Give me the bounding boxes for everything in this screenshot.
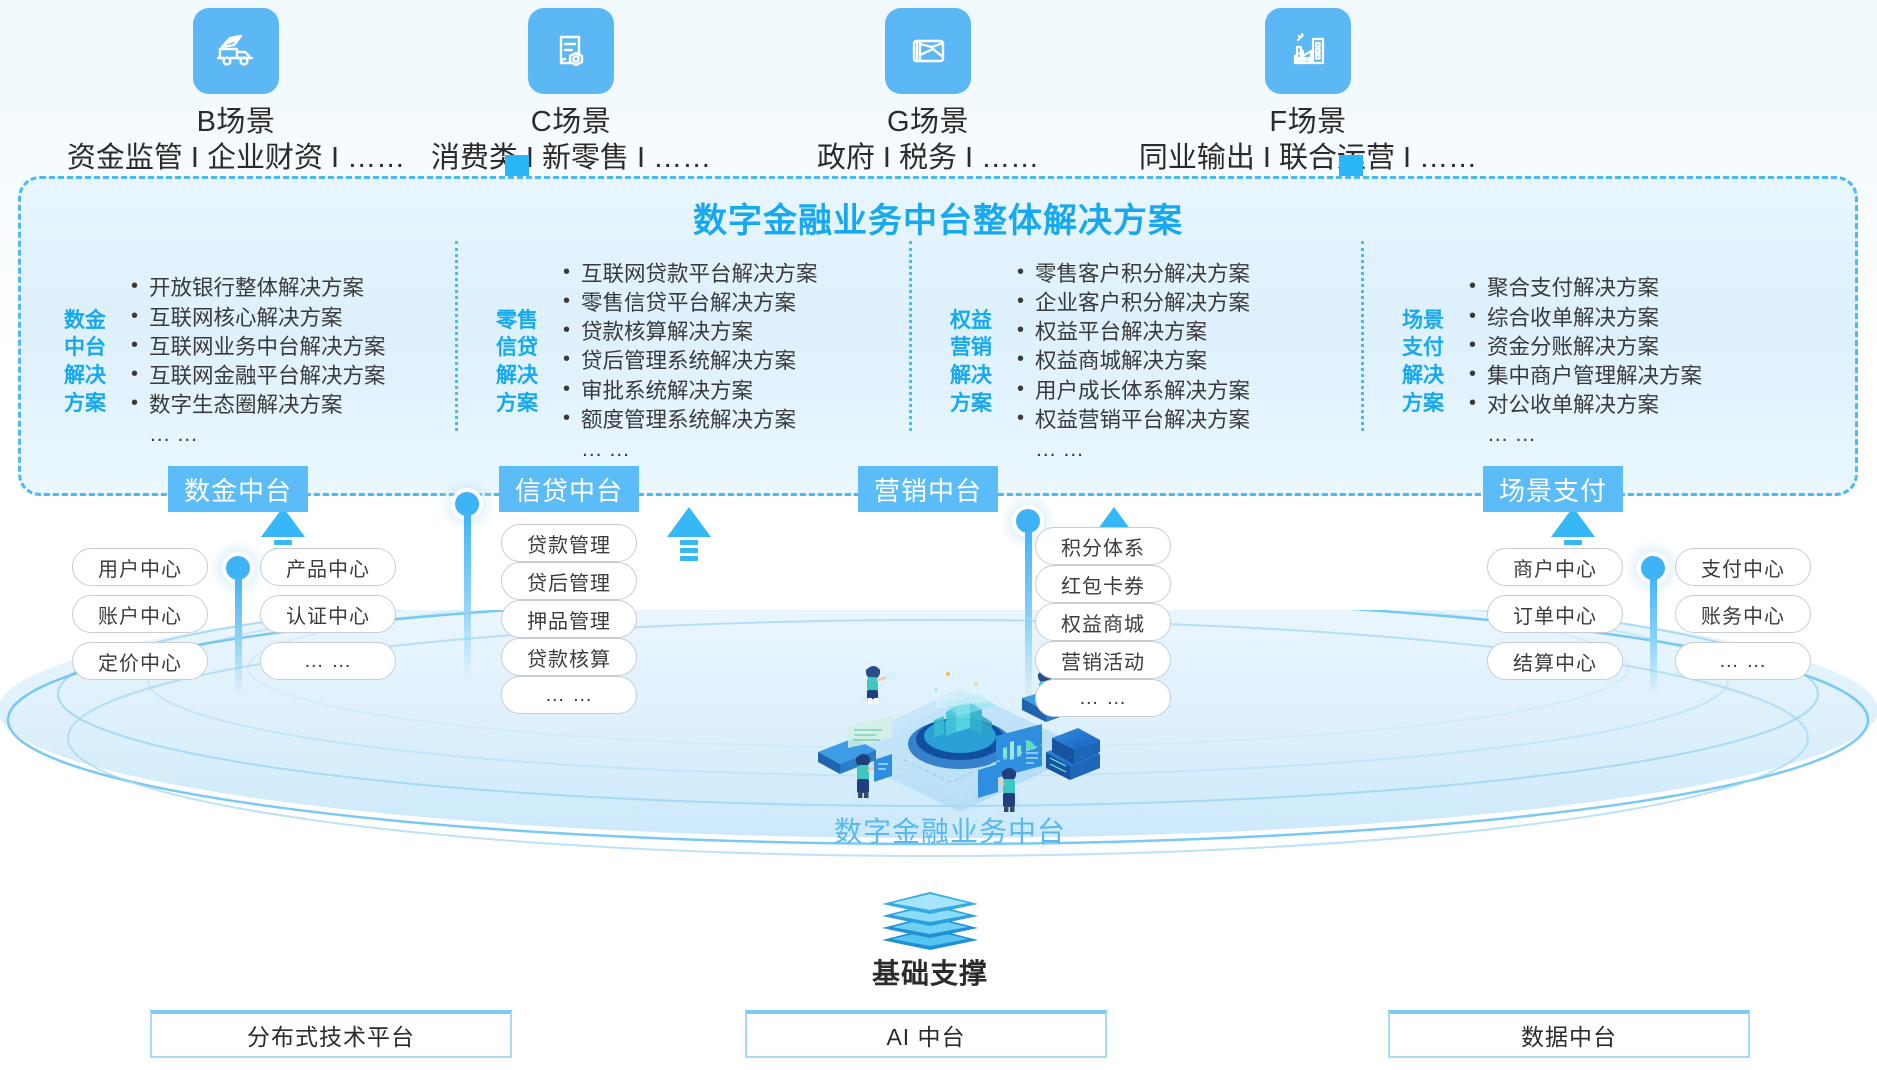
solution-item: 互联网金融平台解决方案 (131, 362, 386, 391)
capability-pill[interactable]: 押品管理 (501, 600, 637, 638)
capability-pill[interactable]: … … (1035, 679, 1171, 717)
solution-item-ellipsis: … … (1469, 420, 1702, 449)
solution-item: 企业客户积分解决方案 (1017, 289, 1250, 318)
flag-map-icon (885, 8, 971, 94)
connector-pin-payment (1625, 540, 1681, 700)
solution-item-ellipsis: … … (131, 420, 386, 449)
arrow-up-credit (667, 507, 711, 573)
solution-column-retail-credit: 零售 信贷 解决 方案 互联网贷款平台解决方案 零售信贷平台解决方案 贷款核算解… (487, 237, 818, 487)
solution-item-list: 聚合支付解决方案 综合收单解决方案 资金分账解决方案 集中商户管理解决方案 对公… (1453, 274, 1702, 449)
solution-item: 额度管理系统解决方案 (563, 406, 818, 435)
diagram-canvas: B场景 资金监管 I 企业财资 I …… C场景 消费类 I 新零售 I …… (0, 0, 1877, 1070)
capability-pill[interactable]: 贷款核算 (501, 638, 637, 676)
column-divider (1361, 241, 1364, 431)
scene-title: F场景 (1108, 104, 1508, 140)
column-divider (455, 241, 458, 431)
solution-item: 贷款核算解决方案 (563, 318, 818, 347)
capability-pill[interactable]: 定价中心 (72, 642, 208, 680)
mid-platform-label-credit[interactable]: 信贷中台 (499, 466, 639, 512)
solution-item-list: 零售客户积分解决方案 企业客户积分解决方案 权益平台解决方案 权益商城解决方案 … (1001, 260, 1250, 465)
solution-column-label: 场景 支付 解决 方案 (1393, 307, 1453, 418)
capability-pill[interactable]: 订单中心 (1487, 595, 1623, 633)
solution-item: 互联网核心解决方案 (131, 304, 386, 333)
solution-item-list: 开放银行整体解决方案 互联网核心解决方案 互联网业务中台解决方案 互联网金融平台… (115, 274, 386, 449)
solution-item: 用户成长体系解决方案 (1017, 377, 1250, 406)
mid-platform-label-payment[interactable]: 场景支付 (1483, 466, 1623, 512)
solution-item: 权益商城解决方案 (1017, 347, 1250, 376)
capability-pill[interactable]: 权益商城 (1035, 603, 1171, 641)
foundation-box-distributed-tech[interactable]: 分布式技术平台 (150, 1010, 512, 1058)
truck-icon (193, 8, 279, 94)
solution-item: 资金分账解决方案 (1469, 333, 1702, 362)
foundation-box-ai-platform[interactable]: AI 中台 (745, 1010, 1107, 1058)
capability-pill[interactable]: 结算中心 (1487, 642, 1623, 680)
capability-pill[interactable]: 营销活动 (1035, 641, 1171, 679)
solution-column-label: 数金 中台 解决 方案 (55, 307, 115, 418)
capability-pill[interactable]: 商户中心 (1487, 548, 1623, 586)
scene-header-g[interactable]: G场景 政府 I 税务 I …… (728, 8, 1128, 178)
solution-item: 数字生态圈解决方案 (131, 391, 386, 420)
capability-pill[interactable]: … … (260, 642, 396, 680)
scene-header-c[interactable]: C场景 消费类 I 新零售 I …… (371, 8, 771, 178)
column-divider (909, 241, 912, 431)
capability-pill[interactable]: 账户中心 (72, 595, 208, 633)
solution-item: 权益平台解决方案 (1017, 318, 1250, 347)
solution-item-list: 互联网贷款平台解决方案 零售信贷平台解决方案 贷款核算解决方案 贷后管理系统解决… (547, 260, 818, 465)
capability-pill[interactable]: 积分体系 (1035, 527, 1171, 565)
solution-item: 权益营销平台解决方案 (1017, 406, 1250, 435)
scene-subtitle: 政府 I 税务 I …… (728, 140, 1128, 178)
solution-item: 对公收单解决方案 (1469, 391, 1702, 420)
connector-pin-credit (439, 476, 495, 676)
scene-header-f[interactable]: F场景 同业输出 I 联合运营 I …… (1108, 8, 1508, 178)
solution-item-ellipsis: … … (563, 435, 818, 464)
capability-pill[interactable]: 账务中心 (1675, 595, 1811, 633)
capability-pill[interactable]: 认证中心 (260, 595, 396, 633)
foundation-label: 基础支撑 (830, 952, 1030, 992)
capability-pill[interactable]: 产品中心 (260, 548, 396, 586)
scene-subtitle: 消费类 I 新零售 I …… (371, 140, 771, 178)
solution-column-digital-finance: 数金 中台 解决 方案 开放银行整体解决方案 互联网核心解决方案 互联网业务中台… (55, 237, 386, 487)
foundation-box-data-platform[interactable]: 数据中台 (1388, 1010, 1750, 1058)
capability-pill[interactable]: 用户中心 (72, 548, 208, 586)
panel-title: 数字金融业务中台整体解决方案 (21, 193, 1855, 242)
scene-subtitle: 同业输出 I 联合运营 I …… (1108, 140, 1508, 178)
capability-pill[interactable]: 贷后管理 (501, 562, 637, 600)
solution-item: 互联网业务中台解决方案 (131, 333, 386, 362)
document-seal-icon (528, 8, 614, 94)
solution-item: 集中商户管理解决方案 (1469, 362, 1702, 391)
capability-pill[interactable]: 红包卡券 (1035, 565, 1171, 603)
solution-column-scenario-payment: 场景 支付 解决 方案 聚合支付解决方案 综合收单解决方案 资金分账解决方案 集… (1393, 237, 1702, 487)
solution-item: 零售信贷平台解决方案 (563, 289, 818, 318)
solution-column-label: 权益 营销 解决 方案 (941, 307, 1001, 418)
capability-pill[interactable]: 贷款管理 (501, 524, 637, 562)
solution-panel: 数字金融业务中台整体解决方案 数金 中台 解决 方案 开放银行整体解决方案 互联… (18, 176, 1858, 496)
solution-item: 审批系统解决方案 (563, 377, 818, 406)
solution-column-label: 零售 信贷 解决 方案 (487, 307, 547, 418)
solution-item: 零售客户积分解决方案 (1017, 260, 1250, 289)
solution-item: 贷后管理系统解决方案 (563, 347, 818, 376)
scene-title: G场景 (728, 104, 1128, 140)
scene-title: C场景 (371, 104, 771, 140)
capability-pill[interactable]: … … (1675, 642, 1811, 680)
connector-pin-digital-finance (210, 540, 266, 700)
capability-pill[interactable]: 支付中心 (1675, 548, 1811, 586)
solution-item: 综合收单解决方案 (1469, 304, 1702, 333)
solution-item: 开放银行整体解决方案 (131, 274, 386, 303)
solution-item: 互联网贷款平台解决方案 (563, 260, 818, 289)
solution-item: 聚合支付解决方案 (1469, 274, 1702, 303)
solution-item-ellipsis: … … (1017, 435, 1250, 464)
layers-icon (860, 880, 1000, 950)
factory-icon (1265, 8, 1351, 94)
mid-platform-label-marketing[interactable]: 营销中台 (858, 466, 998, 512)
mid-platform-label-digital-finance[interactable]: 数金中台 (168, 466, 308, 512)
solution-column-rights-marketing: 权益 营销 解决 方案 零售客户积分解决方案 企业客户积分解决方案 权益平台解决… (941, 237, 1250, 487)
capability-pill[interactable]: … … (501, 676, 637, 714)
